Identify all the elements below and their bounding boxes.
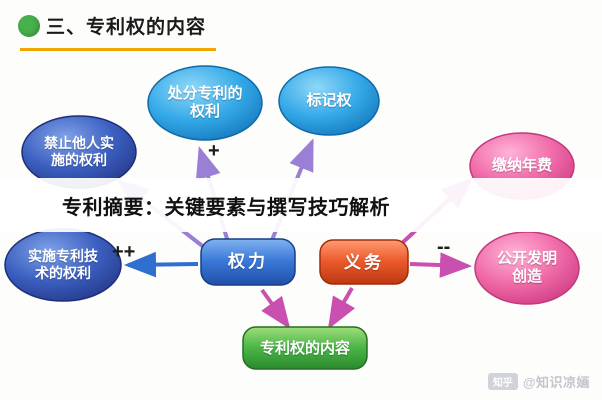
overlay-banner: 专利摘要：关键要素与撰写技巧解析 [0, 178, 602, 232]
operator-plus: + [208, 140, 220, 163]
watermark: 知乎 @知识凉婳 [488, 372, 590, 391]
operator-double-minus: -- [437, 236, 450, 259]
arrow-power-to-implement [128, 264, 198, 265]
node-marking-right[interactable] [279, 67, 379, 135]
node-power[interactable] [201, 239, 295, 285]
node-implement-right[interactable] [5, 229, 121, 301]
connector-layer [120, 142, 470, 326]
diagram-canvas: 三、专利权的内容 [0, 0, 602, 400]
overlay-banner-text: 专利摘要：关键要素与撰写技巧解析 [62, 191, 390, 220]
watermark-text: @知识凉婳 [523, 372, 590, 391]
arrow-duty-to-content [330, 288, 352, 326]
title-underline [20, 48, 216, 51]
node-disposal-right[interactable] [148, 66, 262, 140]
zhihu-logo-icon: 知乎 [488, 373, 518, 390]
node-disclose-invention[interactable] [475, 232, 579, 304]
page-title: 三、专利权的内容 [18, 12, 206, 39]
node-duty[interactable] [320, 240, 408, 284]
node-patent-content[interactable] [243, 327, 367, 369]
page-title-text: 三、专利权的内容 [46, 12, 206, 39]
operator-double-plus: ++ [112, 241, 135, 264]
arrow-power-to-content [262, 290, 288, 326]
arrow-duty-to-disclose [410, 264, 468, 266]
green-bullet-icon [18, 15, 40, 37]
